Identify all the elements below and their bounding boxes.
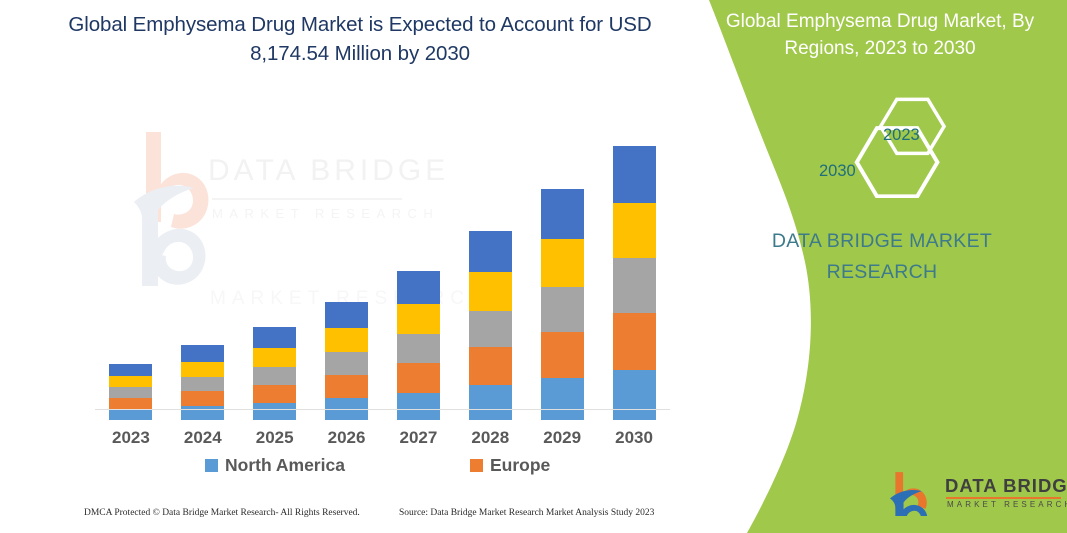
bar-2023 (109, 364, 152, 420)
bar-segment (541, 378, 584, 420)
panel-title: Global Emphysema Drug Market, By Regions… (715, 8, 1045, 62)
x-axis-label-2030: 2030 (598, 428, 670, 448)
bar-2029 (541, 189, 584, 420)
bar-segment (613, 146, 656, 203)
infographic-root: Global Emphysema Drug Market is Expected… (0, 0, 1067, 533)
bar-segment (397, 393, 440, 420)
chart-legend: North AmericaEurope (95, 455, 670, 479)
legend-label: North America (225, 455, 345, 476)
bar-segment (469, 272, 512, 311)
databridge-logo: DATA BRIDGE MARKET RESEARCH (889, 470, 1064, 520)
x-axis-label-2026: 2026 (311, 428, 383, 448)
legend-swatch-icon (470, 459, 483, 472)
footer-dmca-text: DMCA Protected © Data Bridge Market Rese… (84, 508, 360, 518)
bar-segment (541, 332, 584, 378)
bar-segment (181, 345, 224, 362)
green-panel: Global Emphysema Drug Market, By Regions… (687, 0, 1067, 533)
bar-segment (469, 385, 512, 420)
green-panel-content: Global Emphysema Drug Market, By Regions… (687, 0, 1067, 533)
bar-segment (397, 271, 440, 304)
bar-segment (469, 347, 512, 385)
bar-2027 (397, 271, 440, 420)
x-axis-label-2025: 2025 (239, 428, 311, 448)
hexagon-badges: 2030 2023 (687, 88, 1067, 198)
x-axis-line (95, 409, 670, 410)
brand-text-line2: RESEARCH (827, 261, 938, 283)
legend-item-north-america[interactable]: North America (205, 455, 345, 476)
bar-2028 (469, 231, 512, 420)
legend-item-europe[interactable]: Europe (470, 455, 550, 476)
x-axis-label-2027: 2027 (382, 428, 454, 448)
bar-segment (181, 362, 224, 377)
bar-segment (397, 363, 440, 393)
bar-segment (109, 364, 152, 376)
plot-area (95, 120, 670, 420)
bar-segment (541, 189, 584, 239)
logo-text-sub: MARKET RESEARCH (947, 500, 1067, 509)
bar-segment (541, 239, 584, 287)
bar-segment (253, 403, 296, 420)
x-axis-label-2028: 2028 (454, 428, 526, 448)
bar-segment (469, 231, 512, 272)
brand-text: DATA BRIDGE MARKET RESEARCH (717, 226, 1047, 288)
bar-2025 (253, 327, 296, 420)
bar-segment (253, 367, 296, 385)
bar-segment (181, 377, 224, 391)
x-axis-label-2024: 2024 (167, 428, 239, 448)
databridge-logo-icon (889, 470, 939, 516)
bar-segment (469, 311, 512, 347)
legend-label: Europe (490, 455, 550, 476)
bar-segment (325, 352, 368, 375)
bar-segment (325, 375, 368, 398)
bar-segment (613, 313, 656, 370)
brand-text-line1: DATA BRIDGE MARKET (772, 230, 992, 252)
hexagon-icons (687, 88, 1067, 198)
legend-swatch-icon (205, 459, 218, 472)
bar-segment (109, 376, 152, 387)
bar-segment (109, 387, 152, 398)
footer: DMCA Protected © Data Bridge Market Rese… (0, 508, 700, 526)
bar-segment (613, 258, 656, 313)
x-axis-label-2023: 2023 (95, 428, 167, 448)
bar-segment (253, 327, 296, 348)
bar-segment (613, 370, 656, 420)
bar-segment (253, 385, 296, 403)
bar-segment (325, 302, 368, 328)
bar-2026 (325, 302, 368, 420)
bar-segment (181, 391, 224, 406)
x-axis-label-2029: 2029 (526, 428, 598, 448)
chart-region: Global Emphysema Drug Market is Expected… (0, 0, 720, 533)
bar-segment (109, 409, 152, 420)
hexagon-2030-label: 2030 (819, 162, 856, 181)
logo-text-main: DATA BRIDGE (945, 475, 1067, 497)
page-title: Global Emphysema Drug Market is Expected… (60, 10, 660, 68)
bar-segment (541, 287, 584, 332)
bar-segment (397, 304, 440, 334)
x-axis-labels: 20232024202520262027202820292030 (95, 428, 670, 450)
bar-segment (613, 203, 656, 258)
hexagon-2023-label: 2023 (883, 126, 920, 145)
footer-source-text: Source: Data Bridge Market Research Mark… (399, 508, 654, 518)
bar-segment (253, 348, 296, 367)
bar-segment (397, 334, 440, 363)
bar-segment (325, 328, 368, 352)
bar-2030 (613, 146, 656, 420)
bar-segment (109, 398, 152, 409)
logo-rule (946, 497, 1061, 499)
